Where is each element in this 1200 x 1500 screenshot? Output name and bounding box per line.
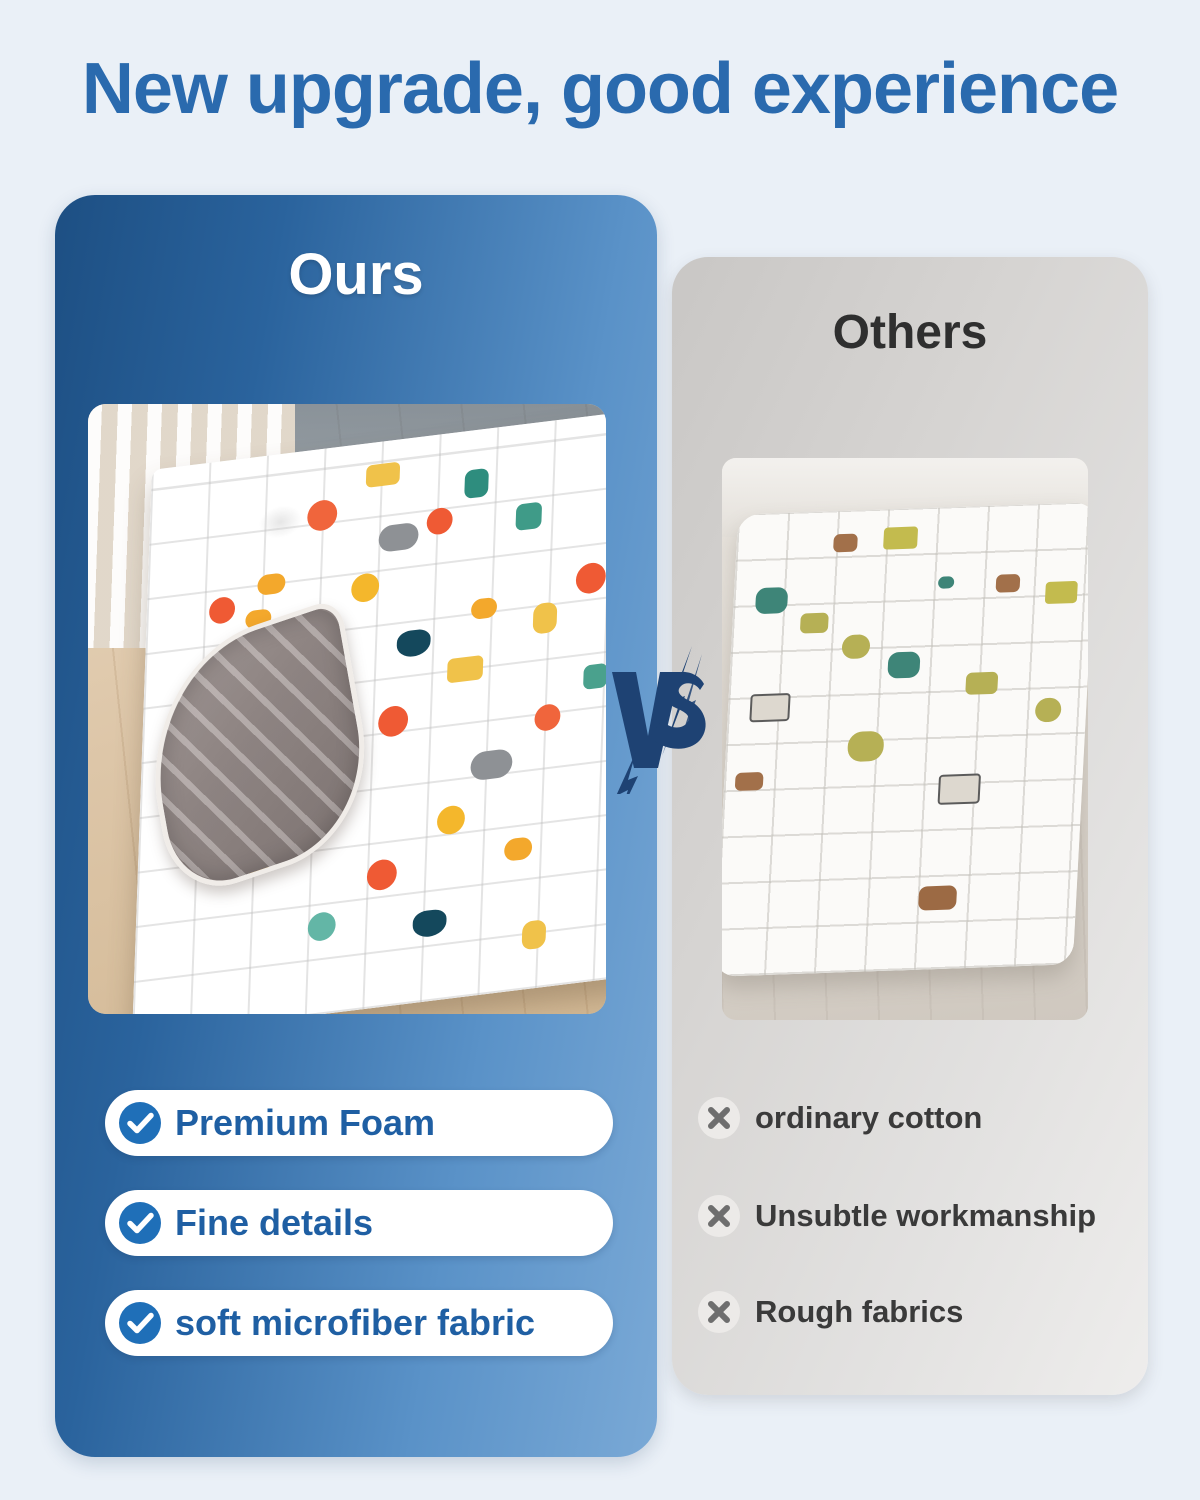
versus-badge (606, 644, 716, 794)
others-product-photo (722, 458, 1088, 1020)
tree-motif (847, 730, 885, 761)
dog-motif (832, 533, 857, 552)
deer-motif (965, 671, 998, 694)
mattress-pad (132, 405, 606, 1014)
x-circle-icon (697, 1096, 741, 1140)
x-circle-icon (697, 1290, 741, 1334)
drawback-label: Rough fabrics (755, 1294, 963, 1330)
ours-panel-heading: Ours (55, 241, 657, 308)
drawback-item: Rough fabrics (697, 1288, 963, 1336)
drawback-item: Unsubtle workmanship (697, 1192, 1096, 1240)
dog-motif (995, 574, 1020, 593)
others-panel-heading: Others (672, 305, 1148, 360)
fox-motif (917, 885, 956, 910)
play-mat (722, 502, 1088, 976)
deer-motif (800, 613, 829, 634)
drawback-label: ordinary cotton (755, 1100, 982, 1136)
drawback-item: ordinary cotton (697, 1094, 982, 1142)
camera-motif (748, 692, 789, 721)
others-photo-scene (722, 458, 1088, 1020)
check-circle-icon (118, 1101, 162, 1145)
ours-product-photo (88, 404, 606, 1014)
giraffe-motif (447, 655, 484, 684)
feature-label: soft microfiber fabric (175, 1302, 535, 1344)
ours-photo-scene (88, 404, 606, 1014)
camera-motif (937, 773, 981, 805)
feature-pill: soft microfiber fabric (105, 1290, 613, 1356)
feature-label: Fine details (175, 1202, 373, 1244)
page-title: New upgrade, good experience (0, 48, 1200, 130)
x-circle-icon (697, 1194, 741, 1238)
cactus-motif (464, 468, 489, 499)
dog-motif (734, 772, 763, 791)
tree-motif (887, 651, 920, 678)
feature-label: Premium Foam (175, 1102, 435, 1144)
pineapple-motif (532, 601, 557, 634)
check-circle-icon (118, 1301, 162, 1345)
feature-pill: Fine details (105, 1190, 613, 1256)
cactus-motif (583, 662, 606, 689)
cactus-motif (515, 501, 542, 530)
vs-lightning-icon (606, 644, 716, 794)
check-circle-icon (118, 1201, 162, 1245)
tent-motif (1044, 581, 1077, 604)
ours-panel: Ours (55, 195, 657, 1457)
giraffe-motif (365, 462, 400, 488)
feature-pill: Premium Foam (105, 1090, 613, 1156)
tree-motif (754, 586, 787, 613)
tent-motif (883, 526, 918, 549)
bush-motif (938, 576, 955, 589)
quilt-texture (722, 502, 1088, 976)
drawback-label: Unsubtle workmanship (755, 1198, 1096, 1234)
others-panel: Others (672, 257, 1148, 1395)
